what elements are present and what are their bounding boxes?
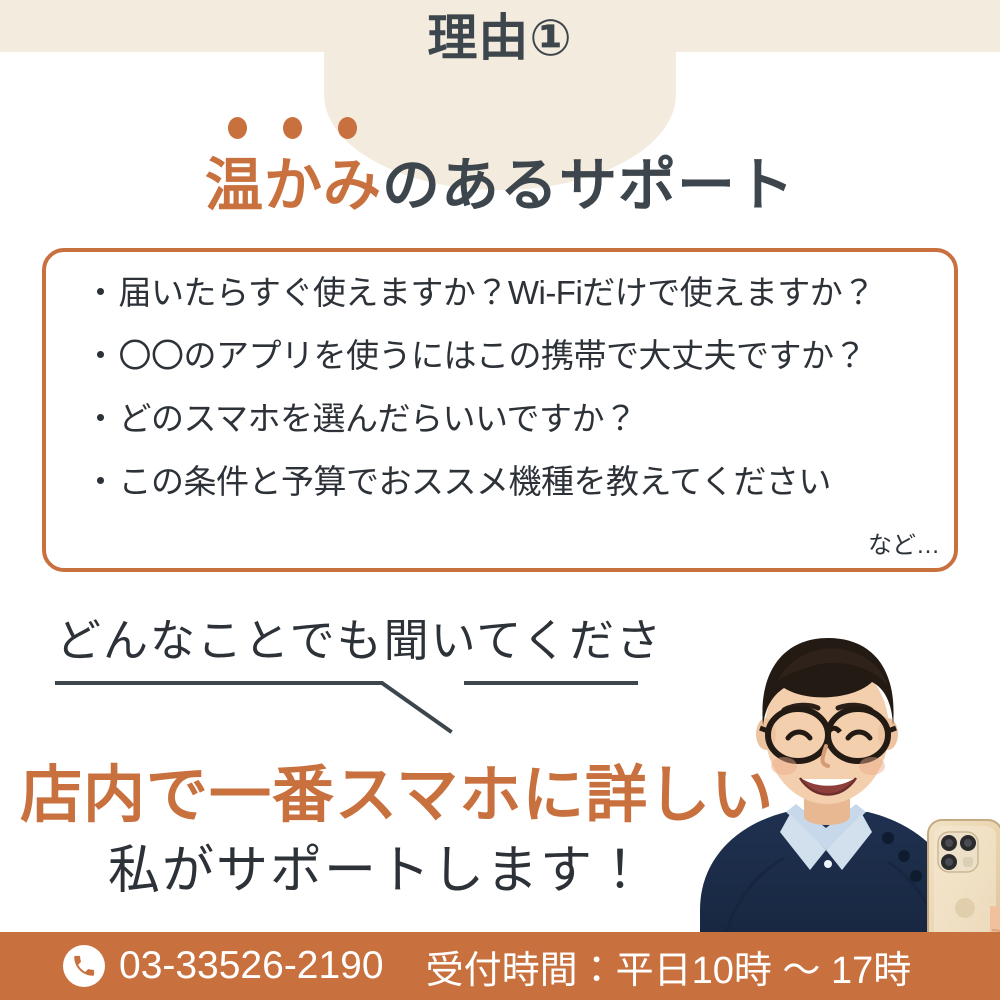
business-hours: 受付時間：平日10時 ～ 17時 bbox=[426, 939, 912, 994]
emphasis-dot-2 bbox=[283, 117, 302, 139]
subheadline-label: 私がサポートします！ bbox=[108, 828, 648, 903]
page-title: 温かみのあるサポート bbox=[0, 138, 1000, 222]
headline-label: 店内で一番スマホに詳しい bbox=[20, 744, 774, 834]
emphasis-dot-3 bbox=[338, 117, 357, 139]
phone-icon[interactable] bbox=[63, 945, 105, 987]
phone-number[interactable]: 03-33526-2190 bbox=[119, 944, 384, 988]
phone-handset-glyph bbox=[71, 953, 97, 979]
page-title-highlight: 温かみ bbox=[205, 153, 382, 218]
poster-root: 理由① 温かみのあるサポート ・ 届いたらすぐ使えますか？Wi-Fiだけで使えま… bbox=[0, 0, 1000, 1000]
emphasis-dot-1 bbox=[228, 117, 247, 139]
page-title-rest: のあるサポート bbox=[382, 153, 795, 218]
emphasis-dots bbox=[228, 117, 357, 139]
contact-footer: 03-33526-2190 受付時間：平日10時 ～ 17時 bbox=[0, 932, 1000, 1000]
